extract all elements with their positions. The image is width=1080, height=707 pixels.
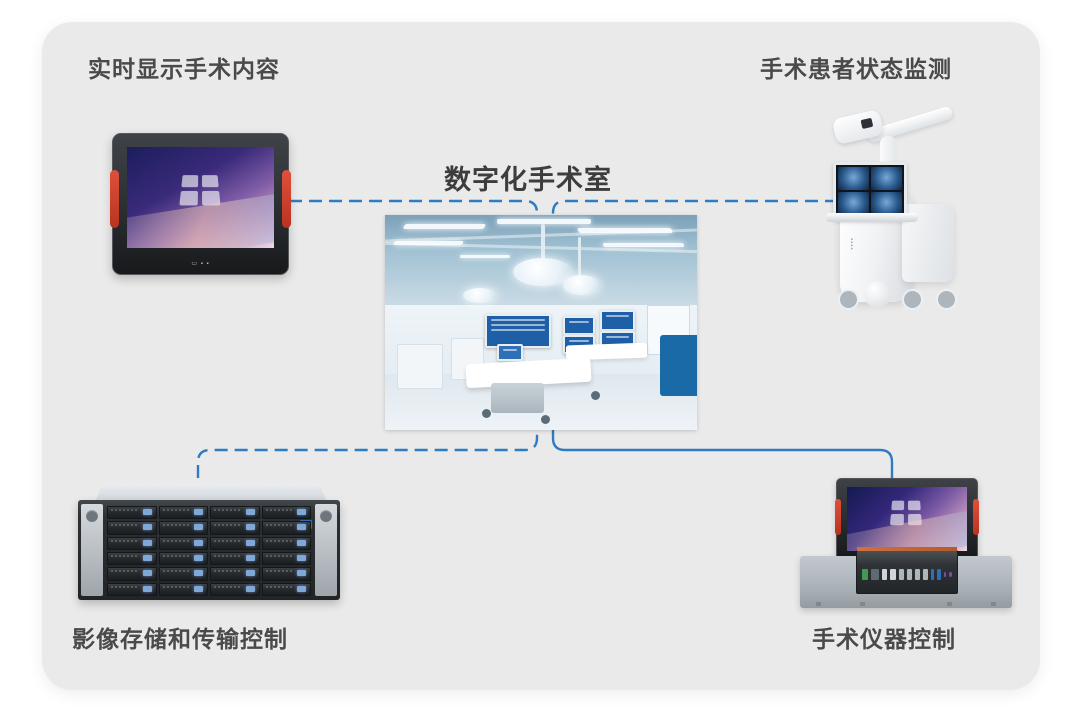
or-monitor — [485, 314, 551, 348]
medical-panel-monitor: ▭ ▪ ▪ — [112, 133, 289, 275]
ceiling-light-panel — [497, 219, 591, 224]
table-wheel — [482, 409, 491, 418]
operating-table-base — [491, 383, 544, 413]
or-monitor — [600, 310, 635, 331]
chassis-foot — [816, 602, 821, 606]
scan-panel — [871, 167, 902, 190]
monitor-screen — [127, 147, 274, 248]
ceiling-light-panel — [460, 255, 510, 258]
drive-bay — [262, 537, 312, 550]
drive-bay — [210, 537, 260, 550]
drive-bay — [107, 552, 157, 565]
io-port-row — [862, 563, 952, 585]
drive-bay — [210, 583, 260, 596]
cart-display — [833, 162, 907, 220]
lan-port — [899, 569, 904, 580]
lan-port — [907, 569, 912, 580]
node-label-storage: 影像存储和传输控制 — [72, 620, 288, 654]
cart-wheel — [936, 289, 957, 310]
scan-panel — [838, 192, 869, 215]
or-monitor — [497, 344, 523, 361]
drive-bay — [159, 552, 209, 565]
drive-bay — [159, 567, 209, 580]
server-handle-left — [81, 504, 103, 596]
server-handle-right — [315, 504, 337, 596]
drive-bay — [107, 583, 157, 596]
drive-bay — [107, 567, 157, 580]
drive-bay — [262, 552, 312, 565]
diagram-canvas: 数字化手术室 — [0, 0, 1080, 707]
drive-bay — [210, 552, 260, 565]
lan-port — [923, 569, 928, 580]
drive-bay — [210, 567, 260, 580]
cart-tray — [826, 213, 918, 222]
box-accent-strip — [857, 547, 957, 551]
drive-bay — [262, 506, 312, 519]
drive-bay — [210, 521, 260, 534]
drive-bay — [107, 506, 157, 519]
monitor-brand-mark: ▭ ▪ ▪ — [113, 260, 288, 267]
monitor-screen — [847, 487, 967, 551]
audio-jack — [949, 572, 952, 577]
node-label-monitoring: 手术患者状态监测 — [760, 50, 952, 84]
ceiling-light-panel — [403, 224, 486, 229]
chassis-foot — [947, 602, 952, 606]
or-monitor — [563, 316, 595, 335]
monitor-grip-right — [282, 170, 291, 228]
cart-pedal-ball — [864, 281, 891, 308]
lan-port — [915, 569, 920, 580]
or-cabinet — [397, 344, 443, 389]
monitor-grip-right — [973, 499, 979, 535]
node-label-display: 实时显示手术内容 — [88, 50, 280, 84]
center-title: 数字化手术室 — [444, 158, 612, 197]
industrial-pc-rig — [800, 478, 1012, 608]
usb-port — [937, 569, 940, 580]
hdmi-port — [882, 569, 888, 580]
drive-bay — [159, 583, 209, 596]
drive-bay — [159, 521, 209, 534]
drive-bay — [159, 506, 209, 519]
drive-bay — [107, 521, 157, 534]
cart-brand-mark: ▪▪▪▪ — [848, 238, 854, 251]
monitor-grip-left — [110, 170, 119, 228]
table-wheel — [541, 415, 550, 424]
drive-bay — [107, 537, 157, 550]
vga-port — [871, 569, 879, 580]
operating-room-photo — [385, 215, 697, 430]
drive-bay — [262, 567, 312, 580]
com-port — [890, 569, 896, 580]
usb-port — [931, 569, 934, 580]
server-front-face — [78, 500, 340, 600]
chassis-foot — [991, 602, 996, 606]
drive-bay-grid — [107, 506, 311, 596]
node-label-instrument: 手术仪器控制 — [812, 620, 956, 654]
chassis-foot — [860, 602, 865, 606]
drive-bay — [210, 506, 260, 519]
cart-wheel — [902, 289, 923, 310]
monitor-grip-left — [835, 499, 841, 535]
scan-panel — [838, 167, 869, 190]
surgical-lamp — [563, 275, 600, 294]
or-blue-cart — [660, 335, 697, 395]
drive-bay — [262, 583, 312, 596]
drive-bay — [262, 521, 312, 534]
power-port — [862, 569, 868, 580]
scan-panel — [871, 192, 902, 215]
drive-bay — [159, 537, 209, 550]
audio-jack — [944, 572, 947, 577]
mobile-imaging-cart: ▪▪▪▪ — [810, 110, 980, 310]
industrial-pc-box — [856, 550, 958, 594]
rack-storage-server — [78, 478, 340, 600]
cart-wheel — [838, 289, 859, 310]
